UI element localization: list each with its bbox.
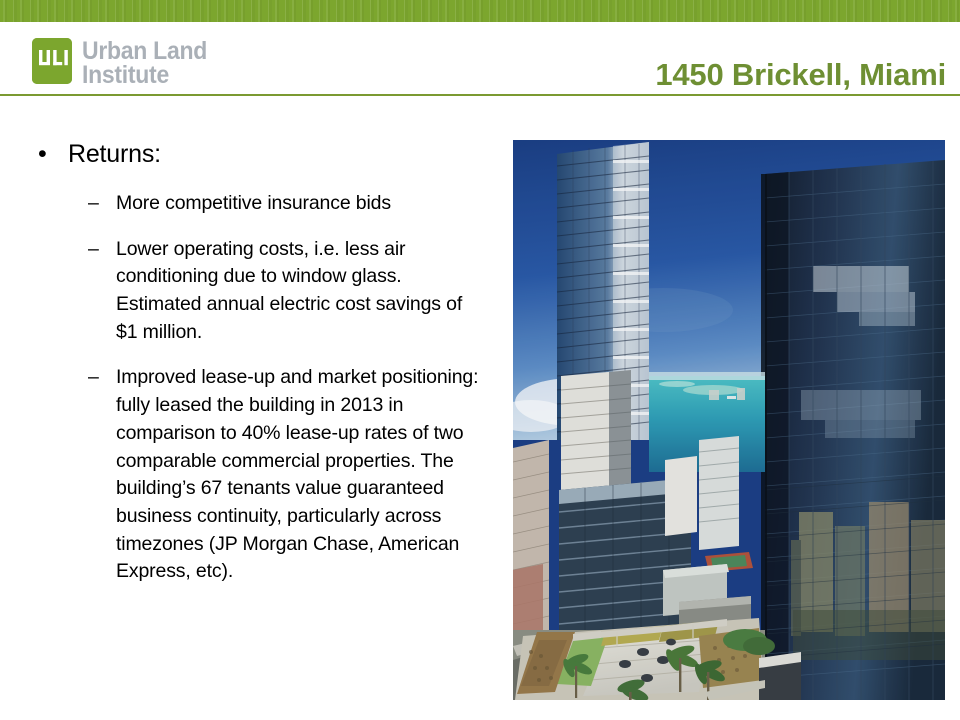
building-photo bbox=[513, 140, 945, 700]
dash-marker-icon: – bbox=[88, 364, 99, 392]
bullet-item: • Returns: bbox=[26, 140, 486, 168]
bullet-item: – Lower operating costs, i.e. less air c… bbox=[26, 236, 486, 347]
bullet-marker-icon: • bbox=[38, 140, 47, 168]
bullet-item: – More competitive insurance bids bbox=[26, 190, 486, 218]
slide-body: • Returns: – More competitive insurance … bbox=[26, 140, 486, 586]
dash-marker-icon: – bbox=[88, 190, 99, 218]
uli-logo-wordmark: Urban Land Institute bbox=[82, 39, 218, 88]
uli-logo-line-1: Urban Land bbox=[82, 39, 207, 63]
dash-marker-icon: – bbox=[88, 236, 99, 264]
uli-logo: Urban Land Institute bbox=[32, 38, 218, 88]
page-title: 1450 Brickell, Miami bbox=[655, 57, 946, 93]
bullet-text: Lower operating costs, i.e. less air con… bbox=[116, 238, 462, 343]
top-green-band bbox=[0, 0, 960, 22]
bullet-text: Returns: bbox=[68, 140, 161, 168]
bullet-text: More competitive insurance bids bbox=[116, 192, 391, 214]
uli-logo-mark-icon bbox=[32, 38, 72, 84]
uli-logo-line-2: Institute bbox=[82, 63, 207, 87]
bullet-item: – Improved lease-up and market positioni… bbox=[26, 364, 486, 586]
bullet-text: Improved lease-up and market positioning… bbox=[116, 366, 478, 582]
header-divider bbox=[0, 94, 960, 96]
